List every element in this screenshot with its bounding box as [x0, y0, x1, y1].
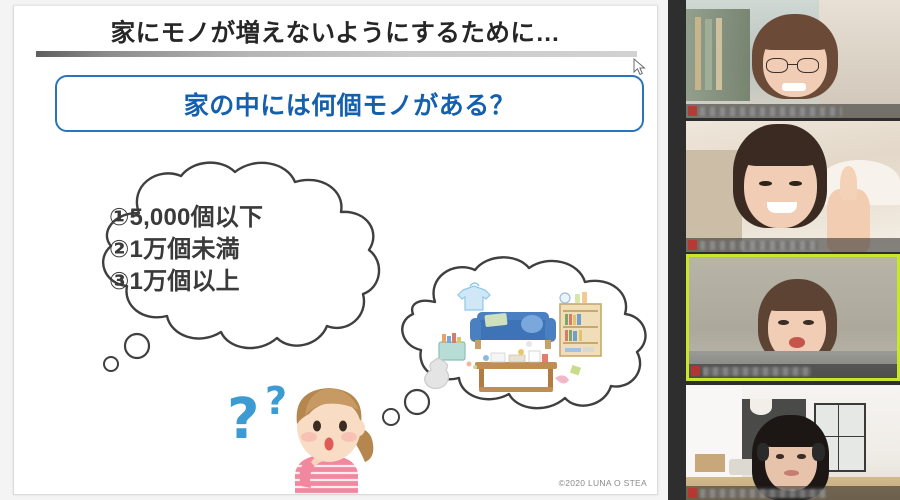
participant-name-bar-4: [686, 486, 900, 500]
option-item-2: ②1万個未満: [109, 234, 379, 266]
participant-video-4: [686, 385, 900, 500]
participant-video-2: [686, 121, 900, 252]
muted-microphone-icon: [691, 366, 700, 376]
title-divider-rule: [36, 51, 637, 57]
room-thought-bubble: [369, 254, 649, 439]
options-list: ①5,000個以下 ②1万個未満 ③1万個以上: [109, 202, 379, 298]
screen-share-meeting-view: 家にモノが増えないようにするために… 家の中には何個モノがある？ ①5,000個…: [0, 0, 900, 500]
options-thought-cloud: ①5,000個以下 ②1万個未満 ③1万個以上: [69, 158, 419, 373]
option-item-1: ①5,000個以下: [109, 202, 379, 234]
participant-tile-3-active-speaker[interactable]: [686, 254, 900, 381]
participant-name-masked-4: [700, 489, 826, 498]
presentation-slide[interactable]: 家にモノが増えないようにするために… 家の中には何個モノがある？ ①5,000個…: [13, 5, 658, 495]
question-mark-icons: ? ?: [227, 379, 287, 452]
participant-tile-1[interactable]: [686, 0, 900, 118]
participant-name-masked-1: [700, 107, 842, 116]
room-bubble-shape: [369, 254, 649, 439]
shared-screen-area[interactable]: 家にモノが増えないようにするために… 家の中には何個モノがある？ ①5,000個…: [0, 0, 668, 500]
participant-name-masked-3: [703, 367, 811, 376]
slide-title: 家にモノが増えないようにするために…: [14, 14, 657, 49]
participant-video-rail[interactable]: [668, 0, 900, 500]
participant-name-masked-2: [700, 241, 818, 250]
participant-tile-4[interactable]: [686, 385, 900, 500]
participant-video-3: [689, 257, 897, 378]
svg-text:?: ?: [227, 387, 259, 452]
muted-microphone-icon: [688, 240, 697, 250]
participant-name-bar-1: [686, 104, 900, 118]
svg-text:?: ?: [265, 379, 287, 423]
muted-microphone-icon: [688, 488, 697, 498]
copyright-notice: ©2020 LUNA O STEA: [559, 478, 647, 488]
muted-microphone-icon: [688, 106, 697, 116]
girl-figure: ? ?: [219, 366, 399, 495]
participant-tile-2[interactable]: [686, 121, 900, 252]
girl-thinking-illustration: ? ?: [219, 366, 399, 495]
participant-name-bar-2: [686, 238, 900, 252]
question-text: 家の中には何個モノがある？: [184, 86, 516, 122]
participant-name-bar-3: [689, 364, 897, 378]
option-item-3: ③1万個以上: [109, 266, 379, 298]
question-callout-box: 家の中には何個モノがある？: [55, 75, 644, 132]
participant-video-1: [686, 0, 900, 118]
